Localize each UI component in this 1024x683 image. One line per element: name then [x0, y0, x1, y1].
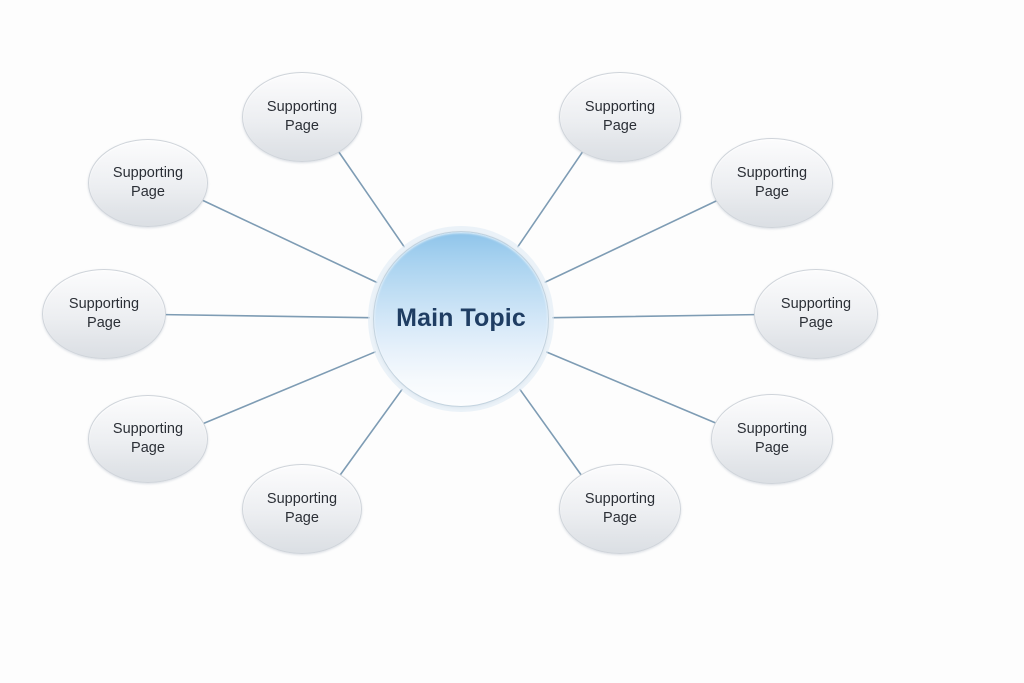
supporting-page-label-line2: Page	[781, 314, 851, 333]
connector-line-n6	[553, 315, 754, 318]
supporting-page-node[interactable]: SupportingPage	[242, 464, 362, 554]
main-topic-node[interactable]: Main Topic	[373, 231, 549, 407]
connector-line-n4	[545, 201, 716, 282]
supporting-page-label-line2: Page	[737, 183, 807, 202]
connector-line-n10	[520, 390, 581, 475]
supporting-page-label-line2: Page	[113, 183, 183, 202]
supporting-page-label: SupportingPage	[775, 295, 857, 333]
supporting-page-label-line2: Page	[737, 439, 807, 458]
supporting-page-node[interactable]: SupportingPage	[754, 269, 878, 359]
supporting-page-node[interactable]: SupportingPage	[559, 464, 681, 554]
supporting-page-label: SupportingPage	[63, 295, 145, 333]
supporting-page-label: SupportingPage	[107, 420, 189, 458]
supporting-page-label-line2: Page	[113, 439, 183, 458]
supporting-page-node[interactable]: SupportingPage	[559, 72, 681, 162]
supporting-page-label: SupportingPage	[107, 164, 189, 202]
connector-line-n5	[166, 315, 369, 318]
supporting-page-label: SupportingPage	[731, 420, 813, 458]
supporting-page-label: SupportingPage	[579, 98, 661, 136]
connector-line-n2	[518, 152, 582, 246]
supporting-page-label: SupportingPage	[731, 164, 813, 202]
connector-line-n3	[203, 201, 377, 283]
connector-line-n8	[547, 352, 715, 423]
mind-map-canvas: SupportingPageSupportingPageSupportingPa…	[0, 0, 1024, 683]
supporting-page-node[interactable]: SupportingPage	[242, 72, 362, 162]
supporting-page-label-line2: Page	[585, 509, 655, 528]
main-topic-label: Main Topic	[396, 305, 526, 333]
supporting-page-node[interactable]: SupportingPage	[711, 394, 833, 484]
supporting-page-label-line2: Page	[585, 117, 655, 136]
connector-line-n1	[339, 152, 404, 246]
supporting-page-label-line2: Page	[267, 509, 337, 528]
supporting-page-node[interactable]: SupportingPage	[42, 269, 166, 359]
supporting-page-label-line2: Page	[267, 117, 337, 136]
supporting-page-label: SupportingPage	[261, 98, 343, 136]
supporting-page-node[interactable]: SupportingPage	[711, 138, 833, 228]
supporting-page-label: SupportingPage	[261, 490, 343, 528]
supporting-page-label: SupportingPage	[579, 490, 661, 528]
connector-line-n7	[204, 352, 375, 423]
supporting-page-node[interactable]: SupportingPage	[88, 139, 208, 227]
connector-line-n9	[341, 390, 402, 475]
supporting-page-label-line2: Page	[69, 314, 139, 333]
supporting-page-node[interactable]: SupportingPage	[88, 395, 208, 483]
